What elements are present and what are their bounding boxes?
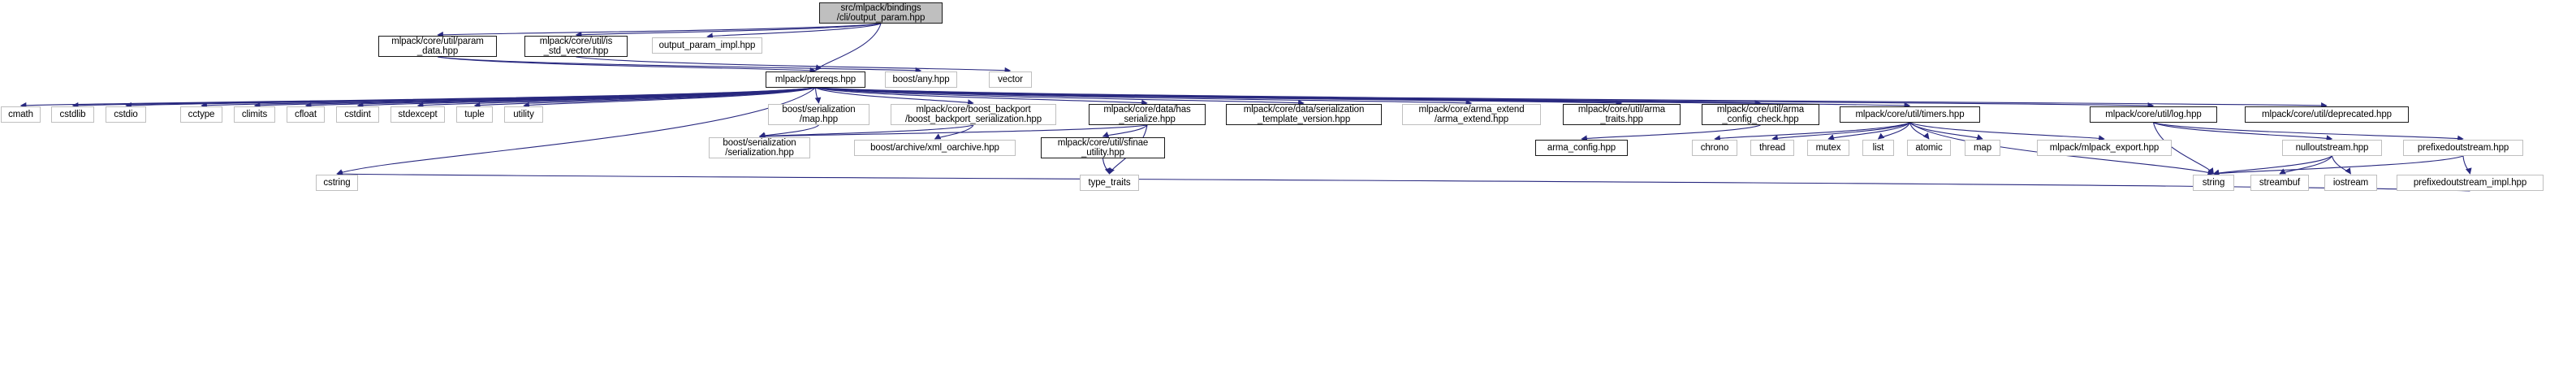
graph-edge xyxy=(337,174,2470,191)
graph-node-has_serialize[interactable]: mlpack/core/data/has _serialize.hpp xyxy=(1089,104,1206,125)
graph-edge xyxy=(2332,156,2351,174)
graph-node-cmath[interactable]: cmath xyxy=(1,106,41,123)
graph-edge xyxy=(816,88,1910,106)
graph-edge xyxy=(438,24,881,35)
graph-node-map[interactable]: map xyxy=(1965,140,2000,156)
graph-node-vector[interactable]: vector xyxy=(989,71,1032,88)
graph-edge xyxy=(1910,123,1930,139)
graph-edge xyxy=(306,88,816,106)
graph-node-ser_map[interactable]: boost/serialization /map.hpp xyxy=(768,104,869,125)
graph-node-cstdint[interactable]: cstdint xyxy=(336,106,379,123)
graph-edges xyxy=(0,0,2576,381)
graph-node-ser_tmpl_ver[interactable]: mlpack/core/data/serialization _template… xyxy=(1226,104,1382,125)
graph-edge xyxy=(2154,123,2332,139)
graph-edge xyxy=(475,88,816,106)
graph-node-timers[interactable]: mlpack/core/util/timers.hpp xyxy=(1840,106,1980,123)
graph-node-boost_any[interactable]: boost/any.hpp xyxy=(885,71,957,88)
graph-edge xyxy=(935,125,974,139)
graph-node-xml_oarchive[interactable]: boost/archive/xml_oarchive.hpp xyxy=(854,140,1016,156)
graph-node-log[interactable]: mlpack/core/util/log.hpp xyxy=(2090,106,2217,123)
graph-edge xyxy=(816,24,882,71)
graph-edge xyxy=(1103,125,1148,136)
graph-edge xyxy=(816,88,2154,106)
graph-edge xyxy=(1772,123,1910,139)
graph-node-root[interactable]: src/mlpack/bindings /cli/output_param.hp… xyxy=(819,2,943,24)
graph-edge xyxy=(760,125,819,136)
graph-edge xyxy=(358,88,816,106)
graph-edge xyxy=(760,125,1148,136)
graph-node-tuple[interactable]: tuple xyxy=(456,106,493,123)
graph-edge xyxy=(2280,156,2332,174)
graph-node-atomic[interactable]: atomic xyxy=(1907,140,1951,156)
graph-edge xyxy=(816,88,1148,103)
graph-edge xyxy=(21,88,816,106)
graph-edge xyxy=(2463,156,2470,174)
graph-node-string[interactable]: string xyxy=(2193,175,2234,191)
graph-node-cstring[interactable]: cstring xyxy=(316,175,358,191)
graph-node-list[interactable]: list xyxy=(1862,140,1894,156)
graph-edge xyxy=(1715,123,1910,139)
graph-edge xyxy=(760,125,974,136)
graph-edge xyxy=(2214,156,2464,174)
graph-node-thread[interactable]: thread xyxy=(1750,140,1794,156)
graph-edge xyxy=(337,88,816,174)
graph-node-prefixedout_impl[interactable]: prefixedoutstream_impl.hpp xyxy=(2397,175,2544,191)
graph-edge xyxy=(73,88,816,106)
graph-node-is_std_vector[interactable]: mlpack/core/util/is _std_vector.hpp xyxy=(524,36,628,57)
graph-edge xyxy=(816,88,1305,103)
graph-edge xyxy=(576,57,1011,71)
graph-node-nulloutstream[interactable]: nulloutstream.hpp xyxy=(2282,140,2382,156)
graph-edge xyxy=(1581,125,1761,139)
graph-node-arma_extend[interactable]: mlpack/core/arma_extend /arma_extend.hpp xyxy=(1402,104,1541,125)
graph-node-chrono[interactable]: chrono xyxy=(1692,140,1737,156)
graph-edge xyxy=(524,88,816,106)
graph-edge xyxy=(1828,123,1910,139)
graph-node-stdexcept[interactable]: stdexcept xyxy=(390,106,445,123)
graph-edge xyxy=(126,88,816,106)
graph-node-cctype[interactable]: cctype xyxy=(180,106,222,123)
graph-node-arma_config[interactable]: arma_config.hpp xyxy=(1535,140,1628,156)
graph-edge xyxy=(438,57,921,71)
graph-edge xyxy=(576,24,882,35)
graph-edge xyxy=(816,88,1472,103)
graph-node-cstdlib[interactable]: cstdlib xyxy=(51,106,94,123)
graph-node-mlpack_export[interactable]: mlpack/mlpack_export.hpp xyxy=(2037,140,2172,156)
graph-node-climits[interactable]: climits xyxy=(234,106,275,123)
graph-edge xyxy=(816,88,1622,103)
graph-edge xyxy=(255,88,816,106)
graph-node-arma_cfg_check[interactable]: mlpack/core/util/arma _config_check.hpp xyxy=(1702,104,1819,125)
graph-edge xyxy=(418,88,816,106)
graph-node-param_data[interactable]: mlpack/core/util/param _data.hpp xyxy=(378,36,497,57)
graph-edge xyxy=(707,24,881,37)
graph-edge xyxy=(2154,123,2464,139)
graph-node-cstdio[interactable]: cstdio xyxy=(106,106,146,123)
graph-edge xyxy=(2214,156,2332,174)
graph-node-prereqs[interactable]: mlpack/prereqs.hpp xyxy=(766,71,865,88)
graph-edge xyxy=(1910,123,2105,139)
graph-node-sfinae_utility[interactable]: mlpack/core/util/sfinae _utility.hpp xyxy=(1041,137,1165,158)
graph-node-prefixedout[interactable]: prefixedoutstream.hpp xyxy=(2403,140,2523,156)
graph-node-deprecated[interactable]: mlpack/core/util/deprecated.hpp xyxy=(2245,106,2409,123)
graph-edge xyxy=(438,57,816,71)
graph-edge xyxy=(201,88,816,106)
graph-node-utility[interactable]: utility xyxy=(504,106,543,123)
graph-edge xyxy=(1910,123,1983,139)
include-dependency-graph: src/mlpack/bindings /cli/output_param.hp… xyxy=(0,0,2576,381)
graph-edge xyxy=(816,88,2328,106)
graph-edge xyxy=(1103,158,1110,174)
graph-node-output_impl[interactable]: output_param_impl.hpp xyxy=(652,37,762,54)
graph-node-iostream[interactable]: iostream xyxy=(2324,175,2377,191)
graph-edge xyxy=(816,88,974,103)
graph-edge xyxy=(816,88,1761,103)
graph-edge xyxy=(816,88,819,103)
graph-node-ser_ser[interactable]: boost/serialization /serialization.hpp xyxy=(709,137,810,158)
graph-node-type_traits[interactable]: type_traits xyxy=(1080,175,1139,191)
graph-node-boost_backport[interactable]: mlpack/core/boost_backport /boost_backpo… xyxy=(891,104,1056,125)
graph-node-arma_traits[interactable]: mlpack/core/util/arma _traits.hpp xyxy=(1563,104,1681,125)
graph-node-mutex[interactable]: mutex xyxy=(1807,140,1849,156)
graph-node-cfloat[interactable]: cfloat xyxy=(287,106,325,123)
graph-node-streambuf[interactable]: streambuf xyxy=(2250,175,2309,191)
graph-edge xyxy=(1879,123,1910,139)
